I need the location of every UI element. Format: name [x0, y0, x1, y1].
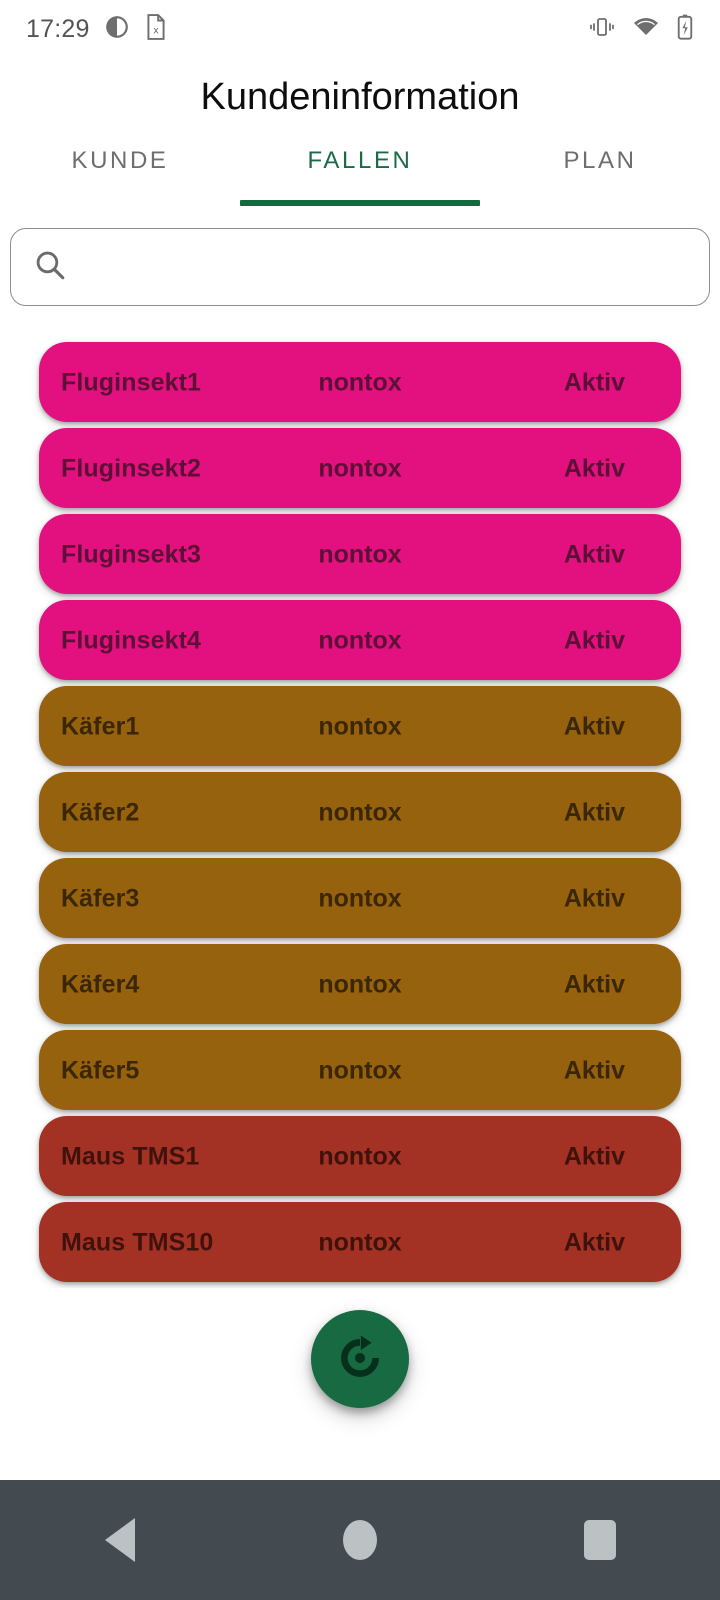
trap-status: Aktiv — [564, 627, 625, 656]
trap-name: Käfer1 — [61, 713, 139, 742]
trap-card[interactable]: Maus TMS10nontoxAktiv — [39, 1202, 681, 1282]
trap-card[interactable]: Käfer3nontoxAktiv — [39, 858, 681, 938]
app-screen: 17:29 x — [0, 0, 720, 1600]
trap-status: Aktiv — [564, 455, 625, 484]
page-title: Kundeninformation — [0, 60, 720, 135]
trap-name: Fluginsekt3 — [61, 541, 201, 570]
trap-toxicity: nontox — [318, 369, 401, 398]
trap-name: Käfer4 — [61, 971, 139, 1000]
trap-card[interactable]: Käfer5nontoxAktiv — [39, 1030, 681, 1110]
trap-name: Fluginsekt1 — [61, 369, 201, 398]
back-triangle-icon — [105, 1518, 135, 1562]
trap-toxicity: nontox — [318, 1229, 401, 1258]
trap-toxicity: nontox — [318, 713, 401, 742]
status-bar-right — [588, 14, 694, 45]
trap-card[interactable]: Fluginsekt2nontoxAktiv — [39, 428, 681, 508]
trap-status: Aktiv — [564, 369, 625, 398]
trap-card[interactable]: Käfer1nontoxAktiv — [39, 686, 681, 766]
status-bar-left: 17:29 x — [26, 14, 168, 45]
sim-card-missing-icon: x — [144, 14, 168, 45]
traps-list[interactable]: Fluginsekt1nontoxAktivFluginsekt2nontoxA… — [0, 336, 720, 1288]
refresh-fab-button[interactable] — [311, 1310, 409, 1408]
trap-toxicity: nontox — [318, 1057, 401, 1086]
search-bar — [10, 228, 710, 306]
trap-name: Fluginsekt4 — [61, 627, 201, 656]
tab-plan-label: PLAN — [563, 147, 636, 175]
trap-status: Aktiv — [564, 1057, 625, 1086]
tab-bar: KUNDE FALLEN PLAN — [0, 138, 720, 206]
nav-home-button[interactable] — [240, 1480, 480, 1600]
tab-kunde[interactable]: KUNDE — [0, 138, 240, 206]
status-bar: 17:29 x — [0, 0, 720, 58]
trap-name: Maus TMS1 — [61, 1143, 199, 1172]
trap-card[interactable]: Fluginsekt4nontoxAktiv — [39, 600, 681, 680]
trap-toxicity: nontox — [318, 627, 401, 656]
refresh-icon — [335, 1333, 385, 1386]
trap-card[interactable]: Maus TMS1nontoxAktiv — [39, 1116, 681, 1196]
trap-toxicity: nontox — [318, 455, 401, 484]
trap-status: Aktiv — [564, 1143, 625, 1172]
trap-toxicity: nontox — [318, 885, 401, 914]
battery-charging-icon — [676, 14, 694, 45]
trap-toxicity: nontox — [318, 971, 401, 1000]
trap-status: Aktiv — [564, 971, 625, 1000]
tab-fallen[interactable]: FALLEN — [240, 138, 480, 206]
status-bar-clock: 17:29 — [26, 15, 90, 44]
tab-kunde-label: KUNDE — [71, 147, 168, 175]
trap-toxicity: nontox — [318, 541, 401, 570]
recents-square-icon — [584, 1520, 616, 1560]
trap-status: Aktiv — [564, 541, 625, 570]
trap-card[interactable]: Fluginsekt1nontoxAktiv — [39, 342, 681, 422]
trap-toxicity: nontox — [318, 1143, 401, 1172]
search-box[interactable] — [10, 228, 710, 306]
trap-card[interactable]: Käfer2nontoxAktiv — [39, 772, 681, 852]
nav-recents-button[interactable] — [480, 1480, 720, 1600]
tab-fallen-label: FALLEN — [308, 147, 413, 175]
android-nav-bar — [0, 1480, 720, 1600]
trap-card[interactable]: Fluginsekt3nontoxAktiv — [39, 514, 681, 594]
trap-name: Fluginsekt2 — [61, 455, 201, 484]
active-tab-indicator — [240, 200, 480, 206]
vibrate-icon — [588, 15, 616, 44]
trap-card[interactable]: Käfer4nontoxAktiv — [39, 944, 681, 1024]
trap-toxicity: nontox — [318, 799, 401, 828]
trap-name: Käfer5 — [61, 1057, 139, 1086]
svg-text:x: x — [153, 25, 159, 36]
trap-name: Maus TMS10 — [61, 1229, 213, 1258]
wifi-icon — [632, 15, 660, 44]
search-icon — [33, 248, 67, 287]
contrast-circle-icon — [104, 14, 130, 45]
trap-name: Käfer2 — [61, 799, 139, 828]
nav-back-button[interactable] — [0, 1480, 240, 1600]
trap-status: Aktiv — [564, 799, 625, 828]
home-circle-icon — [343, 1520, 377, 1560]
tab-plan[interactable]: PLAN — [480, 138, 720, 206]
trap-status: Aktiv — [564, 713, 625, 742]
trap-status: Aktiv — [564, 1229, 625, 1258]
trap-status: Aktiv — [564, 885, 625, 914]
trap-name: Käfer3 — [61, 885, 139, 914]
search-input[interactable] — [67, 229, 687, 305]
